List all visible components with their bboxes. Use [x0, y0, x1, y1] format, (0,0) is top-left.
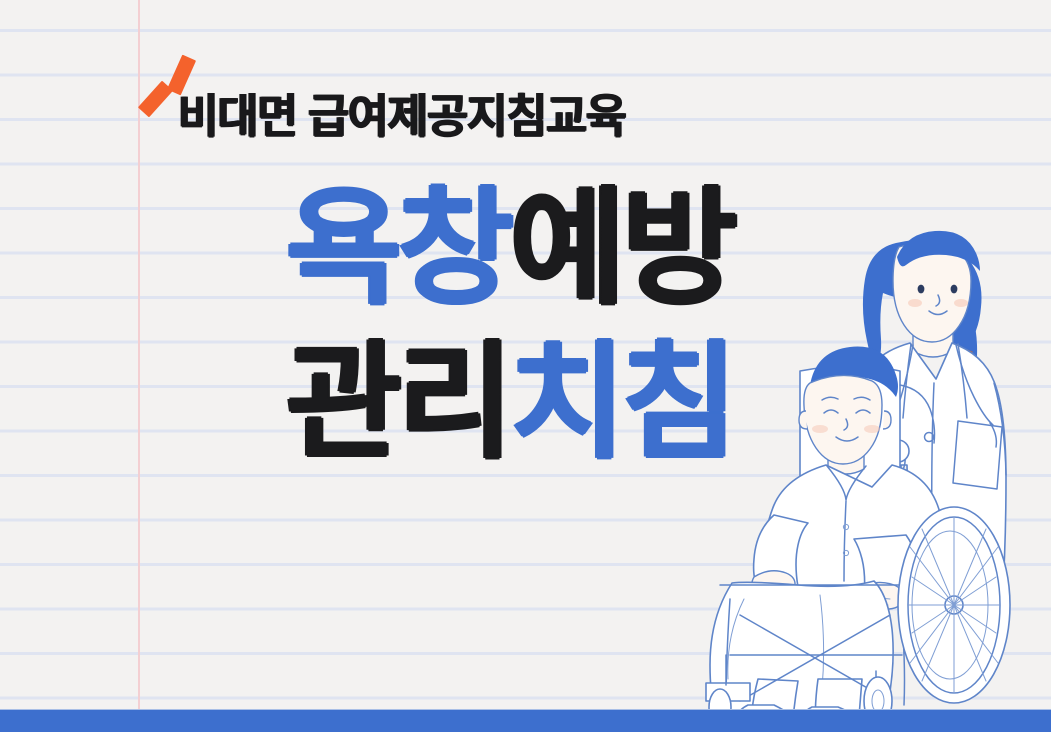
subtitle: 비대면 급여제공지침교육: [178, 80, 626, 146]
main-title-line-2: 관리치침: [286, 340, 734, 466]
wheelchair-rear-wheel: [898, 507, 1010, 703]
main-title-line-1: 욕창예방: [286, 186, 734, 312]
main-title-line-1-blue-segment: 욕창: [286, 178, 510, 319]
main-title-line-2-dark-segment: 관리: [286, 332, 510, 473]
bottom-accent-bar: [0, 709, 1051, 732]
nurse-and-wheelchair-patient-illustration: .ln { fill:#ffffff; stroke:#5f85c9; stro…: [700, 185, 1040, 710]
slide-canvas: 비대면 급여제공지침교육 욕창예방 관리치침 .ln { fill:#fffff…: [0, 0, 1051, 732]
